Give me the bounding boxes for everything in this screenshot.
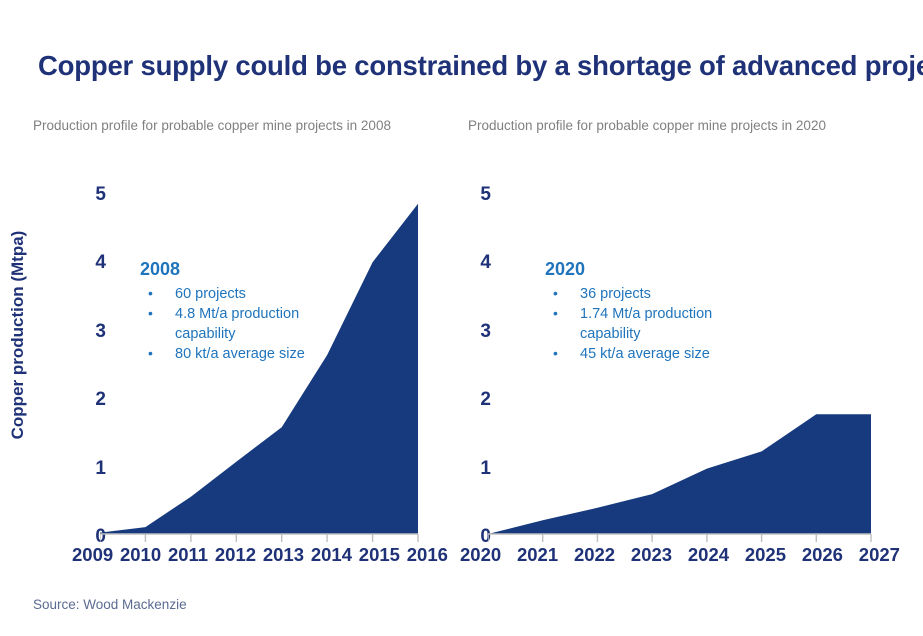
annotation-bullet-text: 1.74 Mt/a production capability <box>580 305 755 344</box>
x-axis-ticks-2020 <box>488 534 871 542</box>
y-axis-label-text: Copper production (Mtpa) <box>8 175 28 495</box>
bullet-icon: • <box>553 344 558 363</box>
x-tick-2015: 2015 <box>359 546 400 565</box>
area-plot-2020 <box>488 190 873 542</box>
y-tick-3: 3 <box>463 322 491 341</box>
annotation-bullet-text: 45 kt/a average size <box>580 345 710 364</box>
area-chart-svg-2020 <box>488 190 873 542</box>
y-tick-1: 1 <box>463 459 491 478</box>
annotation-year-2008: 2008 <box>140 258 340 282</box>
x-tick-2014: 2014 <box>311 546 352 565</box>
x-tick-2023: 2023 <box>631 546 672 565</box>
annotation-bullet-text: 4.8 Mt/a production capability <box>175 305 340 344</box>
annotation-bullet-text: 80 kt/a average size <box>175 345 305 364</box>
chart-panel-2020: 5 4 3 2 1 0 <box>455 165 895 575</box>
annotation-year-2020: 2020 <box>545 258 755 282</box>
annotation-list-2020: • 36 projects • 1.74 Mt/a production cap… <box>545 285 755 364</box>
x-tick-2010: 2010 <box>120 546 161 565</box>
x-tick-2011: 2011 <box>168 546 208 565</box>
chart-subtitle-right: Production profile for probable copper m… <box>468 118 826 133</box>
annotation-2008: 2008 • 60 projects • 4.8 Mt/a production… <box>140 258 340 365</box>
area-chart-svg-2008 <box>100 190 420 542</box>
slide-canvas: Copper supply could be constrained by a … <box>0 0 923 636</box>
annotation-bullet-text: 60 projects <box>175 285 246 304</box>
x-tick-2020: 2020 <box>460 546 501 565</box>
source-note: Source: Wood Mackenzie <box>33 597 187 612</box>
x-tick-2016: 2016 <box>407 546 448 565</box>
annotation-bullet: • 60 projects <box>140 285 340 304</box>
y-tick-4: 4 <box>463 253 491 272</box>
annotation-bullet: • 36 projects <box>545 285 755 304</box>
bullet-icon: • <box>148 344 153 363</box>
x-tick-2021: 2021 <box>517 546 558 565</box>
x-tick-2024: 2024 <box>688 546 729 565</box>
chart-panel-2008: 5 4 3 2 1 0 <box>30 165 450 575</box>
x-tick-2009: 2009 <box>72 546 113 565</box>
bullet-icon: • <box>553 284 558 303</box>
annotation-bullet: • 45 kt/a average size <box>545 345 755 364</box>
area-series-2020 <box>488 414 871 534</box>
chart-subtitle-left: Production profile for probable copper m… <box>33 118 391 133</box>
y-axis-label: Copper production (Mtpa) <box>8 0 28 175</box>
y-tick-5: 5 <box>463 185 491 204</box>
x-axis-ticks-2008 <box>100 534 418 542</box>
annotation-2020: 2020 • 36 projects • 1.74 Mt/a productio… <box>545 258 755 365</box>
x-axis-labels-2008: 2009 2010 2011 2012 2013 2014 2015 2016 <box>72 546 448 565</box>
bullet-icon: • <box>148 284 153 303</box>
x-tick-2025: 2025 <box>745 546 786 565</box>
annotation-list-2008: • 60 projects • 4.8 Mt/a production capa… <box>140 285 340 364</box>
bullet-icon: • <box>553 304 558 323</box>
annotation-bullet: • 1.74 Mt/a production capability <box>545 305 755 344</box>
x-tick-2012: 2012 <box>215 546 256 565</box>
y-tick-2: 2 <box>463 390 491 409</box>
x-tick-2026: 2026 <box>802 546 843 565</box>
annotation-bullet-text: 36 projects <box>580 285 651 304</box>
annotation-bullet: • 4.8 Mt/a production capability <box>140 305 340 344</box>
page-title: Copper supply could be constrained by a … <box>38 50 908 82</box>
bullet-icon: • <box>148 304 153 323</box>
area-series-2008 <box>100 204 418 534</box>
x-axis-labels-2020: 2020 2021 2022 2023 2024 2025 2026 2027 <box>460 546 900 565</box>
x-tick-2022: 2022 <box>574 546 615 565</box>
x-tick-2013: 2013 <box>263 546 304 565</box>
area-plot-2008 <box>100 190 420 542</box>
x-tick-2027: 2027 <box>859 546 900 565</box>
annotation-bullet: • 80 kt/a average size <box>140 345 340 364</box>
